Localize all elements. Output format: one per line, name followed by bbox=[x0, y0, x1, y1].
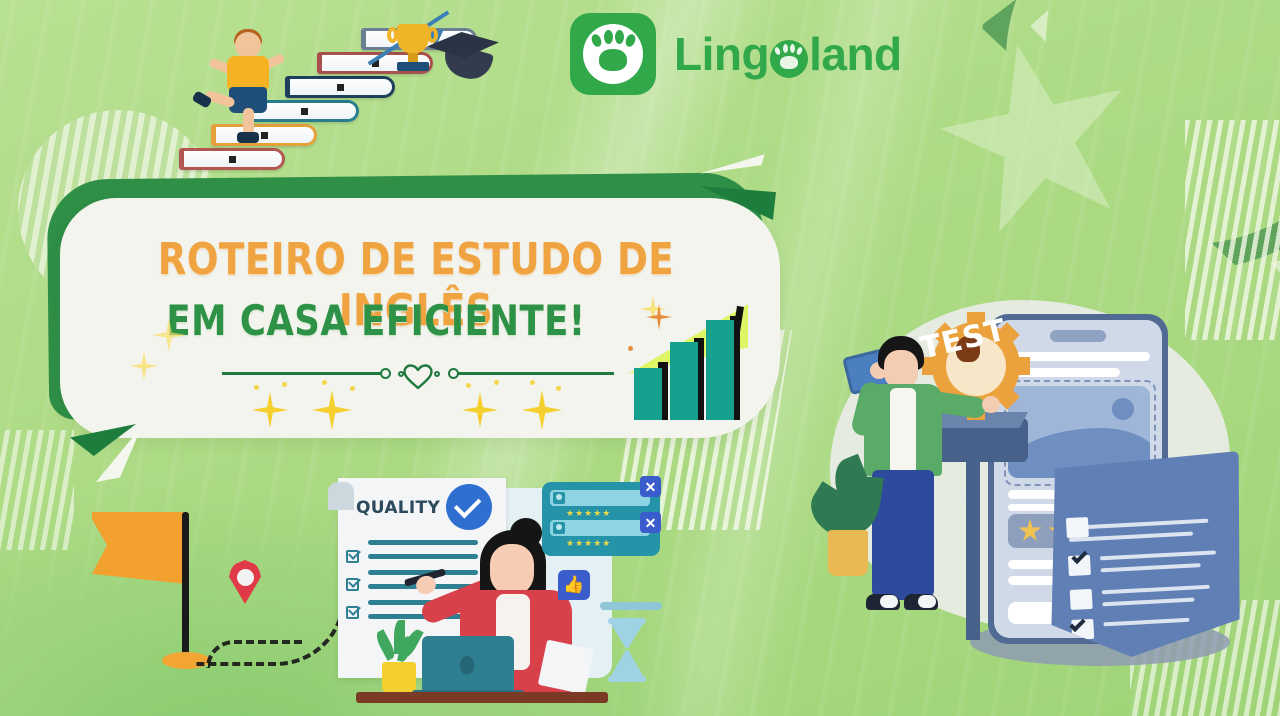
laptop-logo bbox=[460, 656, 474, 674]
paper-fold bbox=[328, 482, 354, 510]
quality-checklist-scene: QUALITY bbox=[320, 478, 660, 716]
boy-climbing-books-illustration bbox=[165, 8, 495, 178]
brand-logo[interactable]: Ling land bbox=[570, 13, 902, 95]
growth-bar-chart-graphic bbox=[624, 300, 754, 420]
orange-flag bbox=[92, 512, 186, 584]
logo-wordmark: Ling land bbox=[674, 27, 902, 81]
shoe bbox=[866, 594, 900, 610]
sparkle-dot bbox=[494, 380, 499, 385]
checklist-line bbox=[368, 554, 478, 559]
book-step bbox=[179, 148, 285, 170]
flag-pole bbox=[182, 512, 189, 660]
avatar-icon bbox=[553, 492, 565, 504]
logo-text-part2: land bbox=[809, 27, 902, 81]
halftone-stripes-left bbox=[0, 430, 74, 550]
face bbox=[490, 544, 534, 596]
paper-line bbox=[1102, 598, 1194, 607]
sparkle-dot bbox=[350, 386, 355, 391]
sparkle-dot bbox=[254, 385, 259, 390]
sparkle-dot bbox=[556, 386, 561, 391]
checkbox-icon bbox=[346, 550, 359, 563]
chart-bar bbox=[670, 342, 698, 420]
checklist-line bbox=[368, 540, 478, 545]
logo-text-part1: Ling bbox=[674, 27, 769, 81]
close-icon[interactable]: ✕ bbox=[640, 512, 661, 533]
plant-pot bbox=[828, 530, 868, 576]
mobile-test-scene: TEST bbox=[820, 300, 1250, 680]
review-row bbox=[550, 520, 650, 536]
placeholder-bar bbox=[600, 602, 662, 610]
map-pin-icon bbox=[228, 560, 262, 604]
chart-bar bbox=[706, 320, 734, 420]
heart-icon bbox=[403, 364, 433, 395]
book-step bbox=[285, 76, 395, 98]
dashed-route-path-segment bbox=[206, 640, 302, 668]
sparkle-dot-orange bbox=[628, 346, 633, 351]
hourglass-icon bbox=[608, 618, 646, 684]
star-icon bbox=[1018, 519, 1042, 543]
checkbox-icon bbox=[346, 578, 359, 591]
avatar-icon bbox=[553, 522, 565, 534]
paper-line bbox=[1102, 585, 1210, 595]
paper-sheets bbox=[538, 640, 595, 695]
shirt bbox=[890, 388, 916, 474]
plant-pot bbox=[382, 662, 416, 694]
review-stars: ★★★★★ bbox=[566, 538, 611, 549]
logo-badge bbox=[570, 13, 656, 95]
chart-bar bbox=[634, 368, 662, 420]
close-icon[interactable]: ✕ bbox=[640, 476, 661, 497]
paper-line bbox=[1068, 519, 1208, 530]
sparkle-dot bbox=[530, 380, 535, 385]
review-row bbox=[550, 490, 650, 506]
page-title-line2: EM CASA EFICIENTE! bbox=[113, 296, 639, 345]
paper-line bbox=[1103, 618, 1189, 626]
shoe bbox=[904, 594, 938, 610]
paw-icon bbox=[583, 24, 643, 84]
sparkle-dot bbox=[282, 382, 287, 387]
boy-runner bbox=[213, 32, 283, 132]
desk bbox=[356, 692, 608, 703]
poster-canvas: Ling land bbox=[0, 0, 1280, 716]
phone-notch bbox=[1050, 330, 1106, 342]
paw-o-icon bbox=[770, 40, 808, 78]
paper-line bbox=[1100, 550, 1216, 560]
graduation-cap-icon bbox=[427, 32, 499, 72]
check-circle-icon bbox=[446, 484, 492, 530]
sparkle-dot bbox=[466, 383, 471, 388]
checklist-title: QUALITY bbox=[356, 498, 440, 518]
decorative-divider bbox=[222, 360, 614, 386]
paper-line bbox=[1101, 563, 1201, 572]
checkbox-icon bbox=[346, 606, 359, 619]
trophy-base bbox=[397, 62, 429, 71]
review-stars: ★★★★★ bbox=[566, 508, 611, 519]
checkbox bbox=[1066, 517, 1089, 538]
thumbs-up-icon: 👍 bbox=[558, 570, 590, 600]
sparkle-dot bbox=[322, 380, 327, 385]
sparkle-icon-orange bbox=[646, 304, 672, 330]
checkbox bbox=[1070, 589, 1093, 610]
